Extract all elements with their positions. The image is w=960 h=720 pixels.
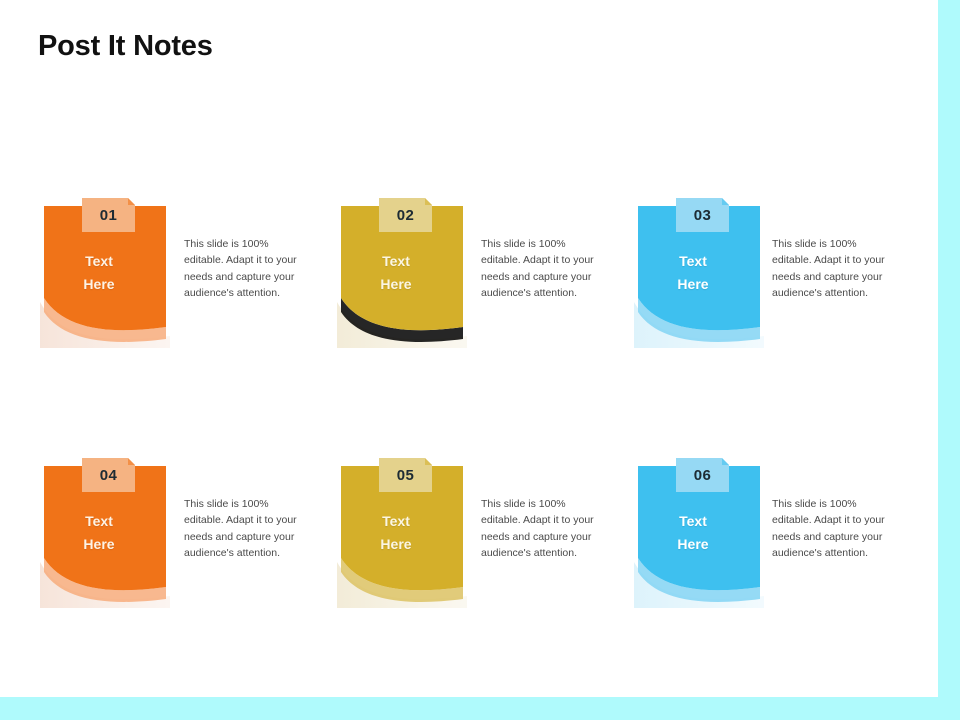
note-number-tab[interactable]: 04	[82, 458, 135, 494]
note-heading: TextHere	[38, 250, 160, 296]
note-heading-line2: Here	[38, 533, 160, 556]
note-description: This slide is 100% editable. Adapt it to…	[184, 236, 310, 301]
note-heading-line2: Here	[632, 273, 754, 296]
note-description: This slide is 100% editable. Adapt it to…	[772, 496, 898, 561]
note-heading-line1: Text	[38, 510, 160, 533]
note-heading: TextHere	[632, 250, 754, 296]
note-heading: TextHere	[335, 510, 457, 556]
note-number: 03	[676, 198, 729, 232]
slide-canvas: Post It Notes 01TextHereThis slide is 10…	[0, 0, 960, 720]
post-it-note[interactable]: 03TextHereThis slide is 100% editable. A…	[632, 198, 932, 348]
post-it-note[interactable]: 04TextHereThis slide is 100% editable. A…	[38, 458, 338, 608]
note-description: This slide is 100% editable. Adapt it to…	[184, 496, 310, 561]
note-number-tab[interactable]: 05	[379, 458, 432, 494]
note-heading-line2: Here	[335, 533, 457, 556]
post-it-note[interactable]: 02TextHereThis slide is 100% editable. A…	[335, 198, 635, 348]
accent-bar-bottom	[0, 697, 960, 720]
page-title: Post It Notes	[38, 30, 213, 63]
note-description: This slide is 100% editable. Adapt it to…	[481, 236, 607, 301]
note-heading-line1: Text	[335, 510, 457, 533]
note-number: 05	[379, 458, 432, 492]
note-heading-line2: Here	[38, 273, 160, 296]
note-heading-line2: Here	[632, 533, 754, 556]
note-number: 06	[676, 458, 729, 492]
note-heading: TextHere	[632, 510, 754, 556]
accent-bar-right	[938, 0, 960, 720]
note-number: 01	[82, 198, 135, 232]
note-heading: TextHere	[38, 510, 160, 556]
note-heading: TextHere	[335, 250, 457, 296]
post-it-note[interactable]: 01TextHereThis slide is 100% editable. A…	[38, 198, 338, 348]
post-it-note[interactable]: 05TextHereThis slide is 100% editable. A…	[335, 458, 635, 608]
note-number: 04	[82, 458, 135, 492]
note-number-tab[interactable]: 01	[82, 198, 135, 234]
note-number: 02	[379, 198, 432, 232]
note-description: This slide is 100% editable. Adapt it to…	[481, 496, 607, 561]
note-number-tab[interactable]: 02	[379, 198, 432, 234]
note-number-tab[interactable]: 06	[676, 458, 729, 494]
post-it-note[interactable]: 06TextHereThis slide is 100% editable. A…	[632, 458, 932, 608]
note-heading-line1: Text	[38, 250, 160, 273]
note-heading-line2: Here	[335, 273, 457, 296]
note-heading-line1: Text	[335, 250, 457, 273]
note-heading-line1: Text	[632, 250, 754, 273]
note-heading-line1: Text	[632, 510, 754, 533]
note-number-tab[interactable]: 03	[676, 198, 729, 234]
note-description: This slide is 100% editable. Adapt it to…	[772, 236, 898, 301]
